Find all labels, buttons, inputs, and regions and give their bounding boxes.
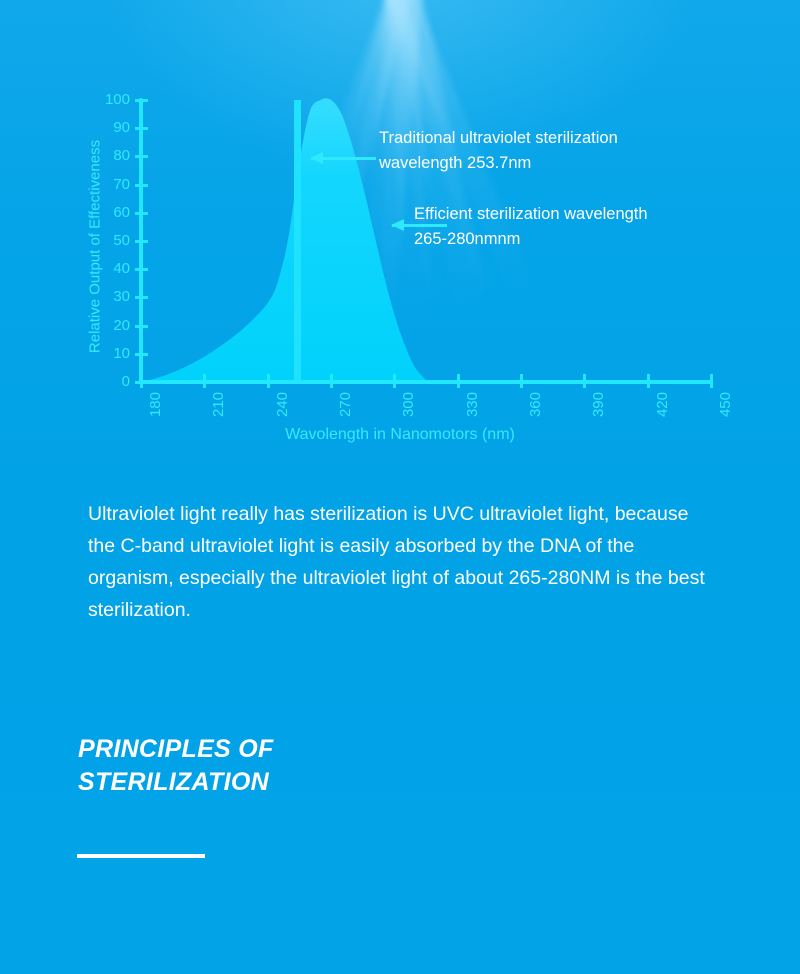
x-tick-label: 270 — [337, 392, 354, 417]
x-tick — [140, 374, 143, 388]
x-tick — [583, 374, 586, 388]
y-tick — [135, 353, 148, 356]
y-tick — [135, 268, 148, 271]
x-tick-label: 240 — [274, 392, 291, 417]
x-tick — [203, 374, 206, 388]
annotation-arrow-traditional — [311, 157, 376, 160]
x-tick — [710, 374, 713, 388]
heading-underline-rule — [77, 854, 205, 858]
x-tick-label: 210 — [210, 392, 227, 417]
x-tick-label: 330 — [464, 392, 481, 417]
x-tick-label: 450 — [717, 392, 734, 417]
y-tick — [135, 184, 148, 187]
y-tick — [135, 325, 148, 328]
body-paragraph: Ultraviolet light really has sterilizati… — [88, 498, 720, 626]
y-axis-title: Relative Output of Effectiveness — [87, 97, 104, 397]
annotation-traditional: Traditional ultraviolet sterilization wa… — [379, 126, 618, 176]
traditional-wavelength-line — [294, 100, 301, 382]
x-tick — [393, 374, 396, 388]
infographic-page: 0102030405060708090100 18021024027030033… — [0, 0, 800, 974]
x-axis-line — [139, 380, 713, 384]
annotation-efficient: Efficient sterilization wavelength 265-2… — [414, 202, 648, 252]
x-tick-label: 180 — [147, 392, 164, 417]
y-tick — [135, 155, 148, 158]
x-tick-label: 300 — [400, 392, 417, 417]
uv-effectiveness-chart: 0102030405060708090100 18021024027030033… — [0, 0, 800, 460]
x-tick — [457, 374, 460, 388]
y-tick — [135, 99, 148, 102]
x-tick-label: 420 — [654, 392, 671, 417]
x-axis-title: Wavolength in Nanomotors (nm) — [0, 426, 800, 444]
y-tick — [135, 296, 148, 299]
x-tick — [330, 374, 333, 388]
x-tick — [520, 374, 523, 388]
x-tick-label: 390 — [590, 392, 607, 417]
x-tick — [647, 374, 650, 388]
section-heading: PRINCIPLES OF STERILIZATION — [78, 733, 518, 799]
x-tick — [267, 374, 270, 388]
y-tick — [135, 212, 148, 215]
y-tick — [135, 240, 148, 243]
y-tick — [135, 127, 148, 130]
x-tick-label: 360 — [527, 392, 544, 417]
